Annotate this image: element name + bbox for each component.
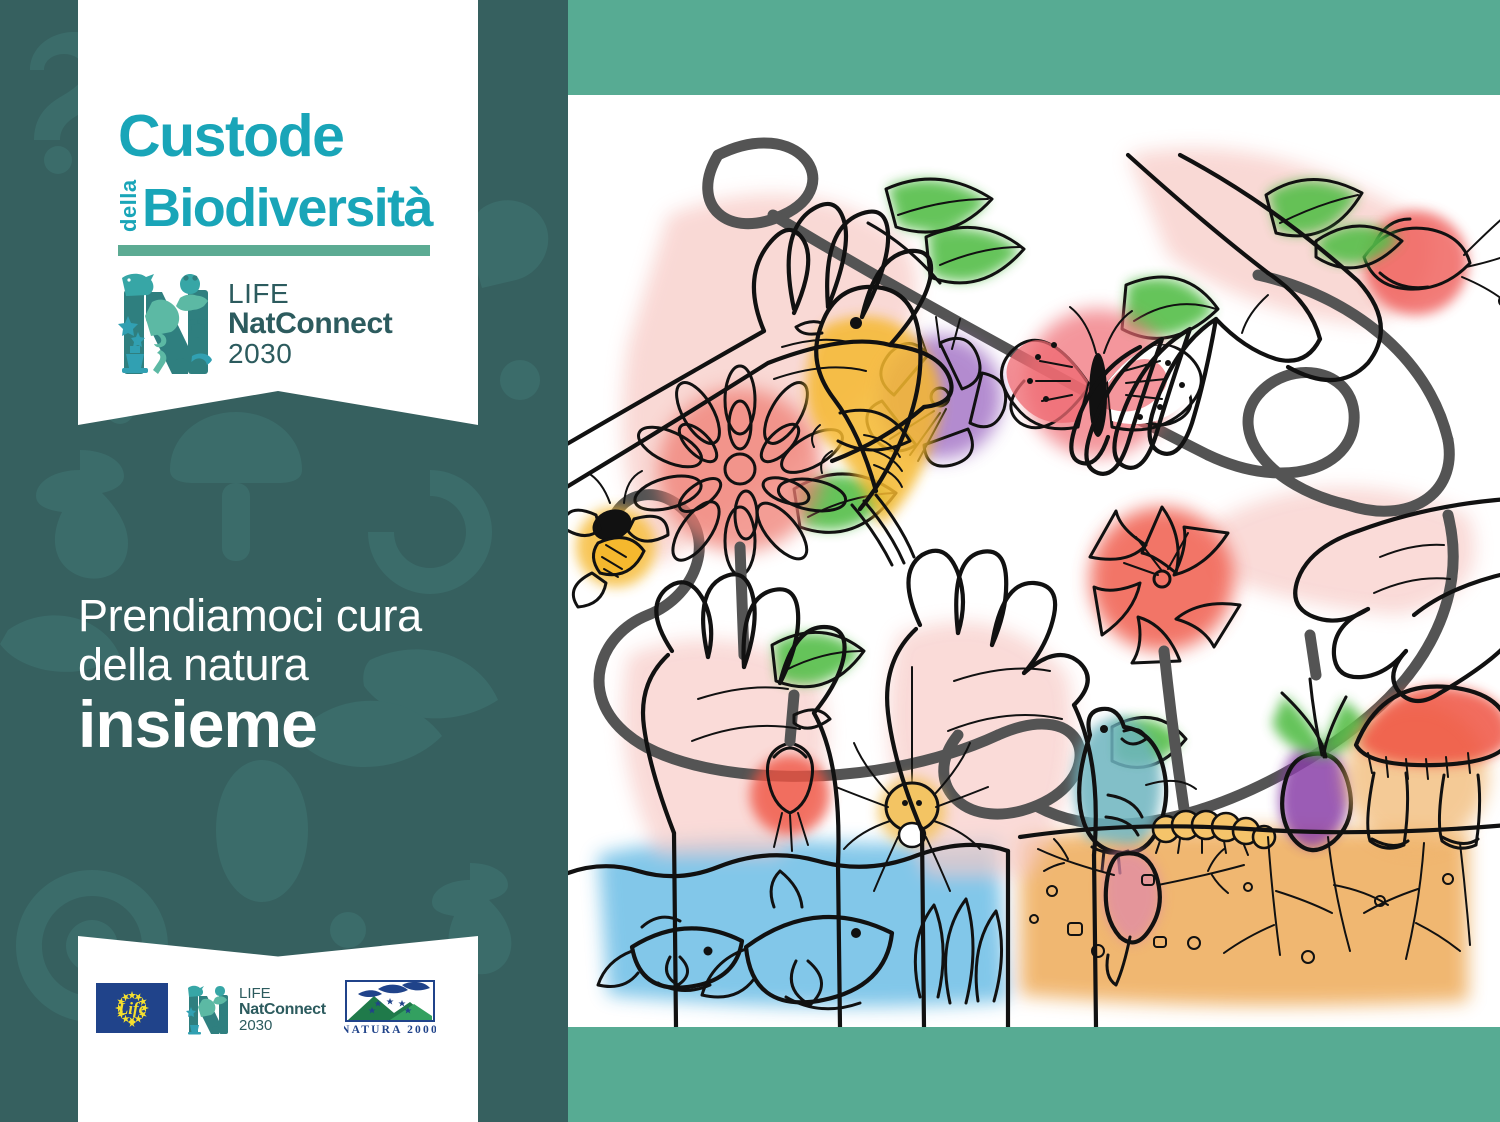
illustration-panel: .ln { fill:none; stroke:#111; stroke-wid… [568, 95, 1500, 1027]
logo-lockup: Custode della Biodiversità [118, 108, 448, 376]
brand-line-year: 2030 [228, 339, 392, 368]
logo-banner-card: Custode della Biodiversità [78, 0, 478, 425]
svg-text:Life: Life [117, 999, 147, 1018]
logo-title-line2: Biodiversità [142, 181, 432, 235]
partner-natconnect-line1: LIFE [239, 986, 326, 1002]
tagline-line3: insieme [78, 691, 508, 758]
hands-and-nature-illustration: .ln { fill:none; stroke:#111; stroke-wid… [568, 95, 1500, 1027]
eu-life-flag-icon: Life [96, 983, 168, 1033]
partner-life-natconnect: LIFE NatConnect 2030 [186, 985, 326, 1035]
life-natconnect-text: LIFE NatConnect 2030 [228, 279, 392, 368]
partner-natconnect-line3: 2030 [239, 1018, 326, 1034]
poster-root: Custode della Biodiversità [0, 0, 1500, 1122]
n-monogram-small-icon [186, 985, 232, 1035]
logo-title-line1: Custode [118, 108, 448, 166]
tagline-line1: Prendiamoci cura [78, 592, 508, 641]
logo-della-text: della [118, 170, 140, 232]
tagline-block: Prendiamoci cura della natura insieme [78, 592, 508, 759]
partners-banner-card: Life [78, 936, 478, 1122]
n-monogram-icon [118, 272, 214, 376]
logo-divider-rule [118, 245, 430, 256]
watercolor-washes [598, 148, 1475, 1007]
brand-line-life: LIFE [228, 279, 392, 308]
partner-natconnect-text: LIFE NatConnect 2030 [239, 986, 326, 1034]
brand-line-natconnect: NatConnect [228, 308, 392, 339]
partner-natura-2000: NATURA 2000 [344, 980, 436, 1040]
natura-2000-icon: NATURA 2000 [344, 980, 436, 1035]
life-natconnect-lockup: LIFE NatConnect 2030 [118, 272, 448, 376]
logo-title-row2: della Biodiversità [118, 170, 448, 235]
partner-natconnect-line2: NatConnect [239, 1002, 326, 1019]
natura-2000-wordmark: NATURA 2000 [344, 1024, 436, 1035]
tagline-line2: della natura [78, 641, 508, 690]
partner-eu-life: Life [96, 983, 168, 1038]
partner-logo-row: Life [96, 980, 468, 1040]
